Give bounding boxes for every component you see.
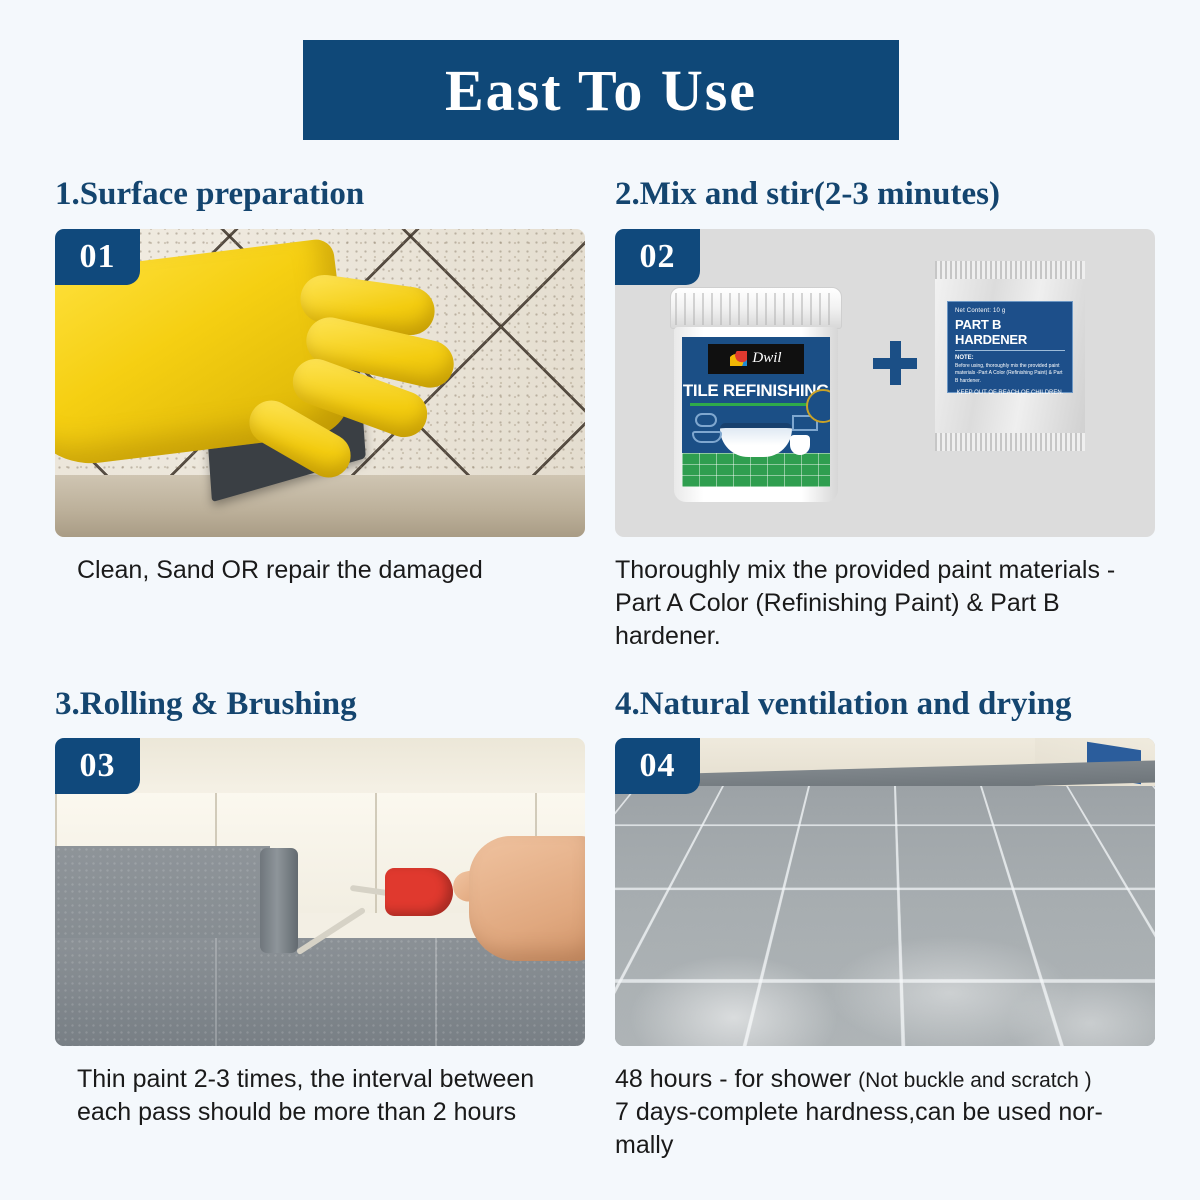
title-banner: East To Use — [303, 40, 899, 140]
brand-logo-box: Dwil — [708, 344, 804, 374]
step-1-caption: Clean, Sand OR repair the damaged — [55, 554, 595, 587]
jar-body: Dwil TILE REFINISHING — [674, 327, 838, 502]
step-3-badge-number: 03 — [80, 747, 116, 785]
sachet-net-content: Net Content: 10 g — [955, 308, 1065, 314]
jar-lid — [670, 287, 842, 329]
sachet-label: Net Content: 10 g PART B HARDENER NOTE: … — [947, 301, 1073, 393]
step-card-2: 2.Mix and stir(2-3 minutes) Dwil — [600, 175, 1200, 653]
step-3-photo: 03 — [55, 738, 585, 1046]
hand — [469, 836, 585, 961]
plus-icon — [873, 341, 917, 385]
step-4-heading: 4.Natural ventilation and drying — [615, 685, 1200, 725]
step-1-heading: 1.Surface preparation — [55, 175, 600, 215]
steps-row-2: 3.Rolling & Brushing — [0, 685, 1200, 1163]
sachet-crimp-bottom — [935, 433, 1085, 451]
step-1-photo: 01 — [55, 229, 585, 537]
paint-seam-vertical-2 — [435, 938, 437, 1046]
step-4-photo: 04 — [615, 738, 1155, 1046]
sachet-crimp-top — [935, 261, 1085, 279]
step-2-heading: 2.Mix and stir(2-3 minutes) — [615, 175, 1200, 215]
step-1-badge: 01 — [55, 229, 140, 285]
step-1-badge-number: 01 — [80, 238, 116, 276]
step-card-4: 4.Natural ventilation and drying 04 48 h… — [600, 685, 1200, 1163]
step-2-caption: Thoroughly mix the provided paint materi… — [615, 554, 1155, 653]
illustration-mirror — [695, 413, 717, 427]
steps-grid: 1.Surface preparation 01 Clean, S — [0, 175, 1200, 1162]
paint-jar: Dwil TILE REFINISHING — [670, 287, 842, 502]
brand-name: Dwil — [752, 350, 781, 367]
bathroom-illustration — [682, 407, 830, 487]
step-4-caption: 48 hours - for shower (Not buckle and sc… — [615, 1063, 1155, 1162]
paint-roller-handle — [385, 868, 453, 916]
quality-seal-icon — [806, 389, 830, 423]
step-2-photo: Dwil TILE REFINISHING — [615, 229, 1155, 537]
paint-roller-nap — [260, 848, 298, 953]
sachet-rule — [955, 350, 1065, 351]
brand-mark-icon — [730, 351, 747, 366]
steps-row-1: 1.Surface preparation 01 Clean, S — [0, 175, 1200, 653]
sachet-note-body: Before using, thoroughly mix the provide… — [955, 363, 1065, 386]
step-3-caption: Thin paint 2-3 times, the interval betwe… — [55, 1063, 595, 1129]
step-4-caption-rest: 7 days-complete hardness,can be used nor… — [615, 1098, 1103, 1159]
sachet-note-label: NOTE: — [955, 355, 1065, 361]
jar-label-rule — [690, 403, 822, 406]
step-card-1: 1.Surface preparation 01 Clean, S — [0, 175, 600, 653]
step-2-badge: 02 — [615, 229, 700, 285]
step-3-heading: 3.Rolling & Brushing — [55, 685, 600, 725]
illustration-tile-floor — [682, 453, 830, 487]
page-title: East To Use — [445, 57, 757, 124]
illustration-sink — [692, 431, 722, 443]
jar-label: Dwil TILE REFINISHING — [682, 337, 830, 487]
step-card-3: 3.Rolling & Brushing — [0, 685, 600, 1163]
paint-seam-vertical — [215, 938, 217, 1046]
step-3-badge: 03 — [55, 738, 140, 794]
step-4-caption-main: 48 hours - for shower — [615, 1065, 858, 1093]
step-4-caption-parenthetical: (Not buckle and scratch ) — [858, 1069, 1091, 1092]
hardener-sachet: Net Content: 10 g PART B HARDENER NOTE: … — [935, 261, 1085, 451]
step-4-badge: 04 — [615, 738, 700, 794]
step-4-badge-number: 04 — [640, 747, 676, 785]
sachet-warning: KEEP OUT OF REACH OF CHILDREN. — [955, 390, 1065, 396]
sachet-title: PART B HARDENER — [955, 317, 1065, 347]
step-2-badge-number: 02 — [640, 238, 676, 276]
illustration-toilet — [790, 435, 810, 455]
tile-ledge — [55, 475, 585, 537]
floor-gloss-sheen — [615, 856, 1155, 1046]
illustration-bathtub — [720, 423, 792, 457]
